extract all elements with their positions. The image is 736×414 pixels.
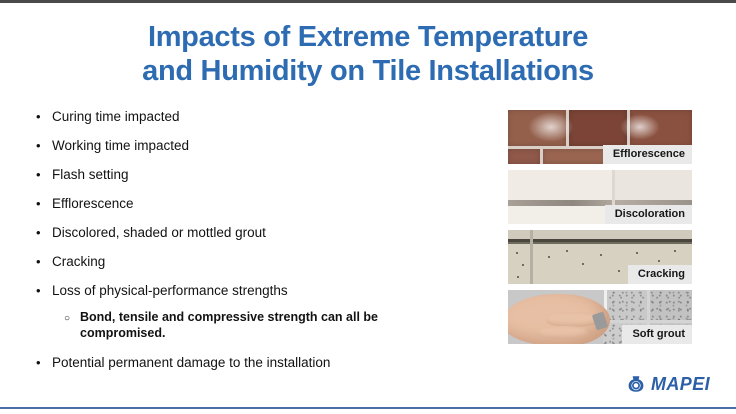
list-item-label: Cracking: [52, 253, 105, 271]
bullet-marker-icon: •: [36, 282, 52, 300]
list-item-label: Discolored, shaded or mottled grout: [52, 224, 266, 242]
panel-label-discoloration: Discoloration: [605, 205, 692, 224]
list-item: • Potential permanent damage to the inst…: [36, 354, 486, 372]
list-item-label: Working time impacted: [52, 137, 189, 155]
mapei-wordmark: MAPEI: [651, 374, 710, 394]
mapei-bag-swirl-icon: [626, 374, 646, 394]
list-item-label: Loss of physical-performance strengths: [52, 282, 288, 300]
panel-cracking: Cracking: [508, 230, 692, 284]
list-item-label: Curing time impacted: [52, 108, 180, 126]
bullet-marker-icon: •: [36, 108, 52, 126]
example-image-panels: Efflorescence Discoloration: [508, 110, 692, 350]
sub-bullet-marker-icon: ○: [64, 309, 80, 328]
list-item-label: Efflorescence: [52, 195, 134, 213]
sub-list-item: ○ Bond, tensile and compressive strength…: [64, 309, 486, 341]
list-item-label: Flash setting: [52, 166, 129, 184]
title-line-2: and Humidity on Tile Installations: [0, 54, 736, 88]
bullet-marker-icon: •: [36, 354, 52, 372]
bullet-marker-icon: •: [36, 195, 52, 213]
bullet-marker-icon: •: [36, 137, 52, 155]
list-item: • Cracking: [36, 253, 486, 271]
list-item: • Flash setting: [36, 166, 486, 184]
list-item: • Curing time impacted: [36, 108, 486, 126]
page-title: Impacts of Extreme Temperature and Humid…: [0, 20, 736, 88]
list-item: • Efflorescence: [36, 195, 486, 213]
panel-label-soft-grout: Soft grout: [622, 325, 692, 344]
footer-rule: [0, 407, 736, 409]
panel-label-efflorescence: Efflorescence: [603, 145, 692, 164]
bullet-list: • Curing time impacted • Working time im…: [36, 108, 486, 383]
sub-list-item-label: Bond, tensile and compressive strength c…: [80, 309, 380, 341]
panel-discoloration: Discoloration: [508, 170, 692, 224]
slide: Impacts of Extreme Temperature and Humid…: [0, 0, 736, 414]
title-line-1: Impacts of Extreme Temperature: [0, 20, 736, 54]
bullet-marker-icon: •: [36, 166, 52, 184]
list-item: • Loss of physical-performance strengths: [36, 282, 486, 300]
list-item-label: Potential permanent damage to the instal…: [52, 354, 330, 372]
list-item: • Working time impacted: [36, 137, 486, 155]
panel-label-cracking: Cracking: [628, 265, 692, 284]
bullet-marker-icon: •: [36, 224, 52, 242]
list-item: • Discolored, shaded or mottled grout: [36, 224, 486, 242]
mapei-logo: MAPEI: [626, 374, 710, 394]
panel-efflorescence: Efflorescence: [508, 110, 692, 164]
top-edge-strip: [0, 0, 736, 3]
bullet-marker-icon: •: [36, 253, 52, 271]
panel-soft-grout: Soft grout: [508, 290, 692, 344]
